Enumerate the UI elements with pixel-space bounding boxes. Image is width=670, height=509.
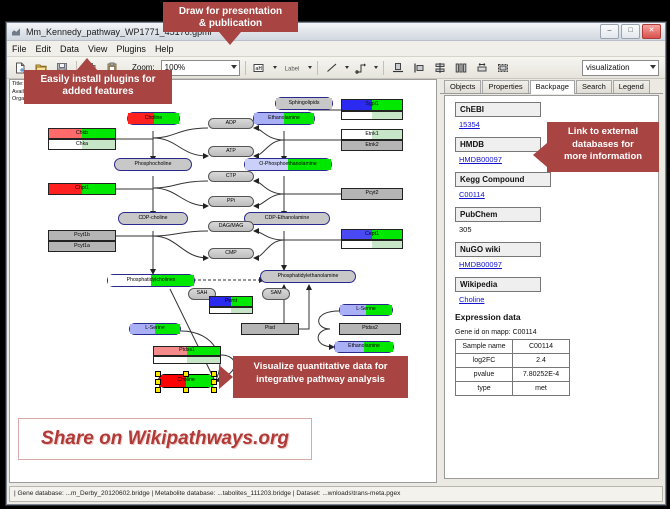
table-row: Sample name C00114 <box>456 340 570 354</box>
screenshot-root: Draw for presentation & publication Mm_K… <box>0 0 670 509</box>
selection-handle-w[interactable] <box>155 379 161 385</box>
node-pcyt2[interactable]: Pcyt2 <box>341 188 403 200</box>
node-label: Pcyt1a <box>74 244 90 249</box>
menu-view[interactable]: View <box>88 44 107 54</box>
status-bar: | Gene database: ...m_Derby_20120602.bri… <box>9 486 663 502</box>
menu-edit[interactable]: Edit <box>36 44 52 54</box>
svg-text:aH: aH <box>255 66 262 72</box>
db-link-nugo-wiki[interactable]: HMDB00097 <box>459 260 658 269</box>
callout-links-line2: databases for <box>572 139 634 150</box>
node-etnk2[interactable]: Etnk2 <box>341 140 403 151</box>
callout-draw-line2: & publication <box>199 18 262 29</box>
node-label: Ptdss2 <box>362 326 378 331</box>
distribute-icon[interactable] <box>452 59 470 77</box>
node-phosphatidylethanolamine[interactable]: Phosphatidylethanolamine <box>260 270 356 283</box>
node-dagmag[interactable]: DAG/MAG <box>208 221 254 232</box>
common-width-icon[interactable] <box>473 59 491 77</box>
node-cdp-ethanolamine[interactable]: CDP-Ethanolamine <box>244 212 330 225</box>
node-chkb[interactable]: Chkb <box>48 128 116 139</box>
table-row: log2FC 2.4 <box>456 354 570 368</box>
node-sgpl1[interactable]: Sgpl1 <box>341 99 403 111</box>
chevron-down-icon-visualization <box>650 65 656 69</box>
node-choline-top[interactable]: Choline <box>127 112 180 125</box>
window-controls: – □ ✕ <box>600 24 661 39</box>
node-pcyt1b[interactable]: Pcyt1b <box>48 230 116 241</box>
selection-handle-n[interactable] <box>183 371 189 377</box>
node-label: ADP <box>226 121 237 126</box>
table-row: type met <box>456 382 570 396</box>
node-label: Etnk2 <box>365 143 378 148</box>
align-left-icon[interactable] <box>410 59 428 77</box>
callout-share-text: Share on Wikipathways.org <box>41 428 289 450</box>
node-etnk1[interactable]: Etnk1 <box>341 129 403 140</box>
node-ethanolamine-top[interactable]: Ethanolamine <box>253 112 315 125</box>
node-label: SAH <box>197 291 208 296</box>
gene-id-on-mapp: Gene id on mapp: C00114 <box>455 329 658 336</box>
node-label: CTP <box>226 174 236 179</box>
stack-center-icon[interactable] <box>431 59 449 77</box>
table-cell-key: pvalue <box>456 368 513 382</box>
datanode-icon[interactable]: aH <box>251 59 269 77</box>
align-bottom-icon[interactable] <box>389 59 407 77</box>
node-ptdss1[interactable]: Ptdss1 <box>153 346 221 356</box>
callout-plugins-line2: added features <box>62 86 133 97</box>
node-label: CDP-Ethanolamine <box>265 216 309 221</box>
node-pemt-lower <box>209 307 253 314</box>
node-label: Phosphocholine <box>135 162 172 167</box>
node-cdp-choline[interactable]: CDP-choline <box>118 212 188 225</box>
node-o-phosphoethanolamine[interactable]: O-Phosphoethanolamine <box>244 158 332 171</box>
table-cell-key: Sample name <box>456 340 513 354</box>
node-sgpl1-lower <box>341 111 403 120</box>
callout-draw-line1: Draw for presentation <box>179 6 282 17</box>
callout-plugins-line1: Easily install plugins for <box>40 74 155 85</box>
node-label: Pisd <box>265 326 275 331</box>
window-titlebar: Mm_Kennedy_pathway_WP1771_45176.gpml – □… <box>7 23 665 41</box>
visualization-value: visualization <box>586 63 630 72</box>
node-chpt1[interactable]: Chpt1 <box>48 183 116 195</box>
table-cell-value: 2.4 <box>513 354 570 368</box>
node-label: CDP-choline <box>138 216 167 221</box>
table-cell-key: type <box>456 382 513 396</box>
db-value-pubchem: 305 <box>459 225 658 234</box>
node-label: PPi <box>227 199 235 204</box>
node-l-serine-left[interactable]: L-Serine <box>129 323 181 335</box>
node-chka[interactable]: Chka <box>48 139 116 150</box>
callout-visualize-line2: integrative pathway analysis <box>256 374 385 385</box>
node-ppi[interactable]: PPi <box>208 196 254 207</box>
menu-data[interactable]: Data <box>60 44 79 54</box>
toolbar-separator-4 <box>383 61 384 75</box>
node-ptdss2[interactable]: Ptdss2 <box>339 323 401 335</box>
node-label: Pcyt1b <box>74 233 90 238</box>
tab-backpage[interactable]: Backpage <box>530 80 575 94</box>
chevron-down-icon <box>231 65 237 69</box>
group-icon[interactable] <box>494 59 512 77</box>
node-pcyt1a[interactable]: Pcyt1a <box>48 241 116 252</box>
node-label: Pcyt2 <box>366 191 379 196</box>
table-cell-value: 7.80252E-4 <box>513 368 570 382</box>
menubar: File Edit Data View Plugins Help <box>7 41 665 57</box>
toolbar-separator-2 <box>245 61 246 75</box>
selection-handle-se[interactable] <box>211 387 217 393</box>
zoom-combobox[interactable]: 100% <box>161 60 240 76</box>
node-ptdss1-lower <box>153 356 221 364</box>
table-row: pvalue 7.80252E-4 <box>456 368 570 382</box>
db-header-wikipedia: Wikipedia <box>455 277 541 292</box>
callout-links-line3: more information <box>564 151 642 162</box>
table-cell-value: C00114 <box>513 340 570 354</box>
datanode-dropdown-arrow[interactable] <box>273 66 277 69</box>
line-icon[interactable] <box>323 59 341 77</box>
side-panel-tabs: Objects Properties Backpage Search Legen… <box>440 79 663 94</box>
pathvisio-icon <box>11 27 21 37</box>
node-label: DAG/MAG <box>219 224 244 229</box>
node-phosphatidylcholines[interactable]: Phosphatidylcholines <box>107 274 195 287</box>
callout-external-links: Link to external databases for more info… <box>547 122 659 172</box>
node-ctp[interactable]: CTP <box>208 171 254 182</box>
tab-legend[interactable]: Legend <box>613 80 650 93</box>
interaction-dropdown-arrow[interactable] <box>374 66 378 69</box>
selection-handle-e[interactable] <box>211 379 217 385</box>
line-dropdown-arrow[interactable] <box>345 66 349 69</box>
callout-draw-for-publication: Draw for presentation & publication <box>163 2 298 32</box>
node-label: Phosphatidylethanolamine <box>278 274 339 279</box>
table-cell-value: met <box>513 382 570 396</box>
node-cept1[interactable]: Cept1 <box>341 229 403 240</box>
callout-links-arrow <box>533 143 547 167</box>
selection-handle-ne[interactable] <box>211 371 217 377</box>
selection-handle-sw[interactable] <box>155 387 161 393</box>
db-header-hmdb: HMDB <box>455 137 541 152</box>
selection-handle-s[interactable] <box>183 387 189 393</box>
close-button[interactable]: ✕ <box>642 24 661 39</box>
db-link-kegg-compound[interactable]: C00114 <box>459 190 658 199</box>
callout-plugins: Easily install plugins for added feature… <box>24 70 172 104</box>
menu-file[interactable]: File <box>12 44 27 54</box>
node-atp[interactable]: ATP <box>208 146 254 157</box>
node-phosphocholine[interactable]: Phosphocholine <box>114 158 192 171</box>
toolbar-separator-3 <box>317 61 318 75</box>
node-label: ATP <box>226 149 236 154</box>
db-header-pubchem: PubChem <box>455 207 541 222</box>
node-cmp[interactable]: CMP <box>208 248 254 259</box>
tab-search[interactable]: Search <box>576 80 612 93</box>
menu-plugins[interactable]: Plugins <box>116 44 146 54</box>
expression-data-table: Sample name C00114 log2FC 2.4 pvalue 7.8… <box>455 339 570 396</box>
svg-text:Label: Label <box>284 66 299 72</box>
callout-share-wikipathways: Share on Wikipathways.org <box>18 418 312 460</box>
node-adp[interactable]: ADP <box>208 118 254 129</box>
tab-properties[interactable]: Properties <box>482 80 528 93</box>
minimize-button[interactable]: – <box>600 24 619 39</box>
visualization-combobox[interactable]: visualization <box>582 60 659 76</box>
interaction-icon[interactable] <box>352 59 370 77</box>
menu-help[interactable]: Help <box>155 44 174 54</box>
node-label: CMP <box>225 251 237 256</box>
callout-visualize-line1: Visualize quantitative data for <box>254 361 388 372</box>
expression-data-heading: Expression data <box>455 312 658 322</box>
db-header-chebi: ChEBI <box>455 102 541 117</box>
label-dropdown-arrow[interactable] <box>308 66 312 69</box>
tab-objects[interactable]: Objects <box>444 80 481 93</box>
callout-draw-arrow <box>219 32 241 45</box>
db-link-wikipedia[interactable]: Choline <box>459 295 658 304</box>
db-header-kegg-compound: Kegg Compound <box>455 172 551 187</box>
callout-links-line1: Link to external <box>568 126 638 137</box>
db-header-nugo-wiki: NuGO wiki <box>455 242 541 257</box>
table-cell-key: log2FC <box>456 354 513 368</box>
callout-visualize-arrow-left <box>219 365 233 389</box>
node-pisd[interactable]: Pisd <box>241 323 299 335</box>
node-sam[interactable]: SAM <box>262 288 290 300</box>
selection-handle-nw[interactable] <box>155 371 161 377</box>
node-ethanolamine-bottom[interactable]: Ethanolamine <box>334 341 394 353</box>
node-sphingolipids[interactable]: Sphingolipids <box>275 97 333 110</box>
node-l-serine-right[interactable]: L-Serine <box>339 304 393 316</box>
node-cept1-lower <box>341 240 403 249</box>
maximize-button[interactable]: □ <box>621 24 640 39</box>
label-icon[interactable]: Label <box>280 59 304 77</box>
node-pemt[interactable]: Pemt <box>209 296 253 307</box>
callout-visualize: Visualize quantitative data for integrat… <box>233 356 408 398</box>
node-label: SAM <box>270 291 281 296</box>
